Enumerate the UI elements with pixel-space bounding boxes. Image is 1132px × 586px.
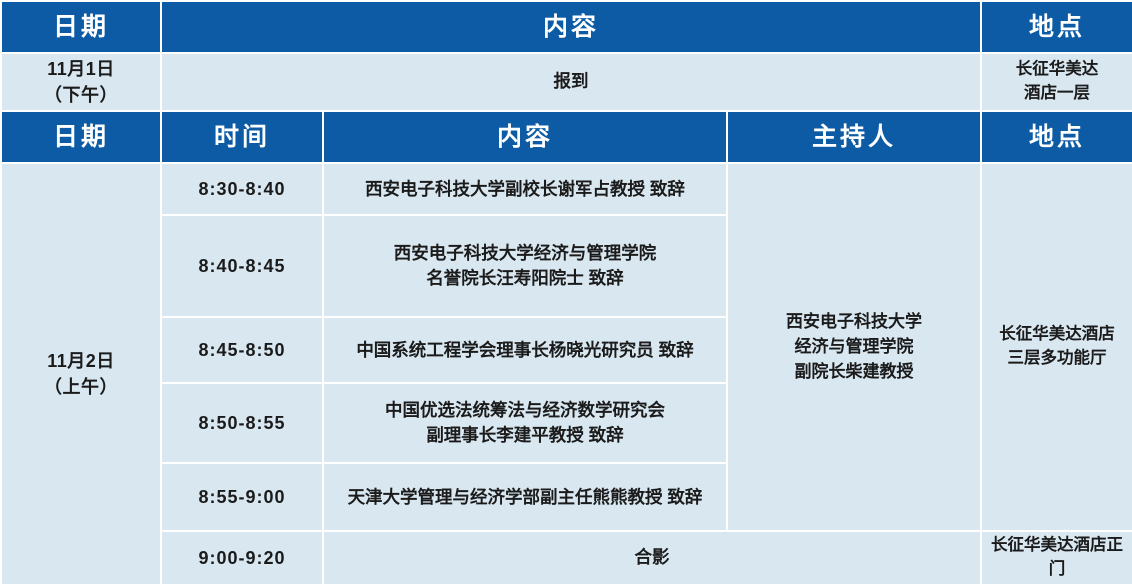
cell-content: 西安电子科技大学经济与管理学院 名誉院长汪寿阳院士 致辞 bbox=[323, 215, 727, 317]
date-line-2: （上午） bbox=[8, 374, 154, 400]
cell-content: 中国系统工程学会理事长杨晓光研究员 致辞 bbox=[323, 317, 727, 383]
header-date-day2: 日期 bbox=[1, 111, 161, 163]
content-line-2: 副理事长李建平教授 致辞 bbox=[330, 423, 720, 448]
place-line-1: 长征华美达酒店 bbox=[988, 323, 1126, 347]
content-line-1: 中国优选法统筹法与经济数学研究会 bbox=[330, 398, 720, 423]
cell-time: 8:45-8:50 bbox=[161, 317, 323, 383]
header-row-day2: 日期 时间 内容 主持人 地点 bbox=[1, 111, 1132, 163]
cell-time: 8:40-8:45 bbox=[161, 215, 323, 317]
content-line-1: 西安电子科技大学副校长谢军占教授 致辞 bbox=[330, 177, 720, 202]
place-line-2: 三层多功能厅 bbox=[988, 347, 1126, 371]
cell-time: 9:00-9:20 bbox=[161, 531, 323, 585]
header-content-day1: 内容 bbox=[161, 1, 981, 53]
cell-time: 8:30-8:40 bbox=[161, 163, 323, 215]
cell-host: 西安电子科技大学 经济与管理学院 副院长柴建教授 bbox=[727, 163, 981, 531]
cell-content: 中国优选法统筹法与经济数学研究会 副理事长李建平教授 致辞 bbox=[323, 383, 727, 463]
cell-time: 8:55-9:00 bbox=[161, 463, 323, 531]
header-place-day1: 地点 bbox=[981, 1, 1132, 53]
content-line-1: 中国系统工程学会理事长杨晓光研究员 致辞 bbox=[330, 338, 720, 363]
cell-date-day2: 11月2日 （上午） bbox=[1, 163, 161, 585]
cell-place: 长征华美达酒店 三层多功能厅 bbox=[981, 163, 1132, 531]
cell-content: 天津大学管理与经济学部副主任熊熊教授 致辞 bbox=[323, 463, 727, 531]
content-line-1: 西安电子科技大学经济与管理学院 bbox=[330, 241, 720, 266]
date-line-2: （下午） bbox=[8, 82, 154, 108]
place-line-2: 酒店一层 bbox=[988, 82, 1126, 106]
conference-schedule-table: 日期 内容 地点 11月1日 （下午） 报到 长征华美达 酒店一层 日期 时间 … bbox=[0, 0, 1132, 586]
cell-content-day1: 报到 bbox=[161, 53, 981, 111]
content-line-1: 天津大学管理与经济学部副主任熊熊教授 致辞 bbox=[330, 485, 720, 510]
host-line-2: 经济与管理学院 bbox=[734, 335, 974, 360]
table-row-day1: 11月1日 （下午） 报到 长征华美达 酒店一层 bbox=[1, 53, 1132, 111]
date-line-1: 11月2日 bbox=[8, 348, 154, 374]
header-date-day1: 日期 bbox=[1, 1, 161, 53]
date-line-1: 11月1日 bbox=[8, 56, 154, 82]
header-content-day2: 内容 bbox=[323, 111, 727, 163]
cell-place-last: 长征华美达酒店正门 bbox=[981, 531, 1132, 585]
header-place-day2: 地点 bbox=[981, 111, 1132, 163]
content-line-1: 合影 bbox=[330, 545, 974, 570]
host-line-3: 副院长柴建教授 bbox=[734, 360, 974, 385]
header-row-day1: 日期 内容 地点 bbox=[1, 1, 1132, 53]
cell-content: 合影 bbox=[323, 531, 981, 585]
cell-time: 8:50-8:55 bbox=[161, 383, 323, 463]
cell-content: 西安电子科技大学副校长谢军占教授 致辞 bbox=[323, 163, 727, 215]
table-row: 11月2日 （上午） 8:30-8:40 西安电子科技大学副校长谢军占教授 致辞… bbox=[1, 163, 1132, 215]
cell-place-day1: 长征华美达 酒店一层 bbox=[981, 53, 1132, 111]
header-time-day2: 时间 bbox=[161, 111, 323, 163]
place-line-1: 长征华美达 bbox=[988, 58, 1126, 82]
content-line-2: 名誉院长汪寿阳院士 致辞 bbox=[330, 266, 720, 291]
cell-date-day1: 11月1日 （下午） bbox=[1, 53, 161, 111]
host-line-1: 西安电子科技大学 bbox=[734, 310, 974, 335]
header-host-day2: 主持人 bbox=[727, 111, 981, 163]
table-row: 9:00-9:20 合影 长征华美达酒店正门 bbox=[1, 531, 1132, 585]
